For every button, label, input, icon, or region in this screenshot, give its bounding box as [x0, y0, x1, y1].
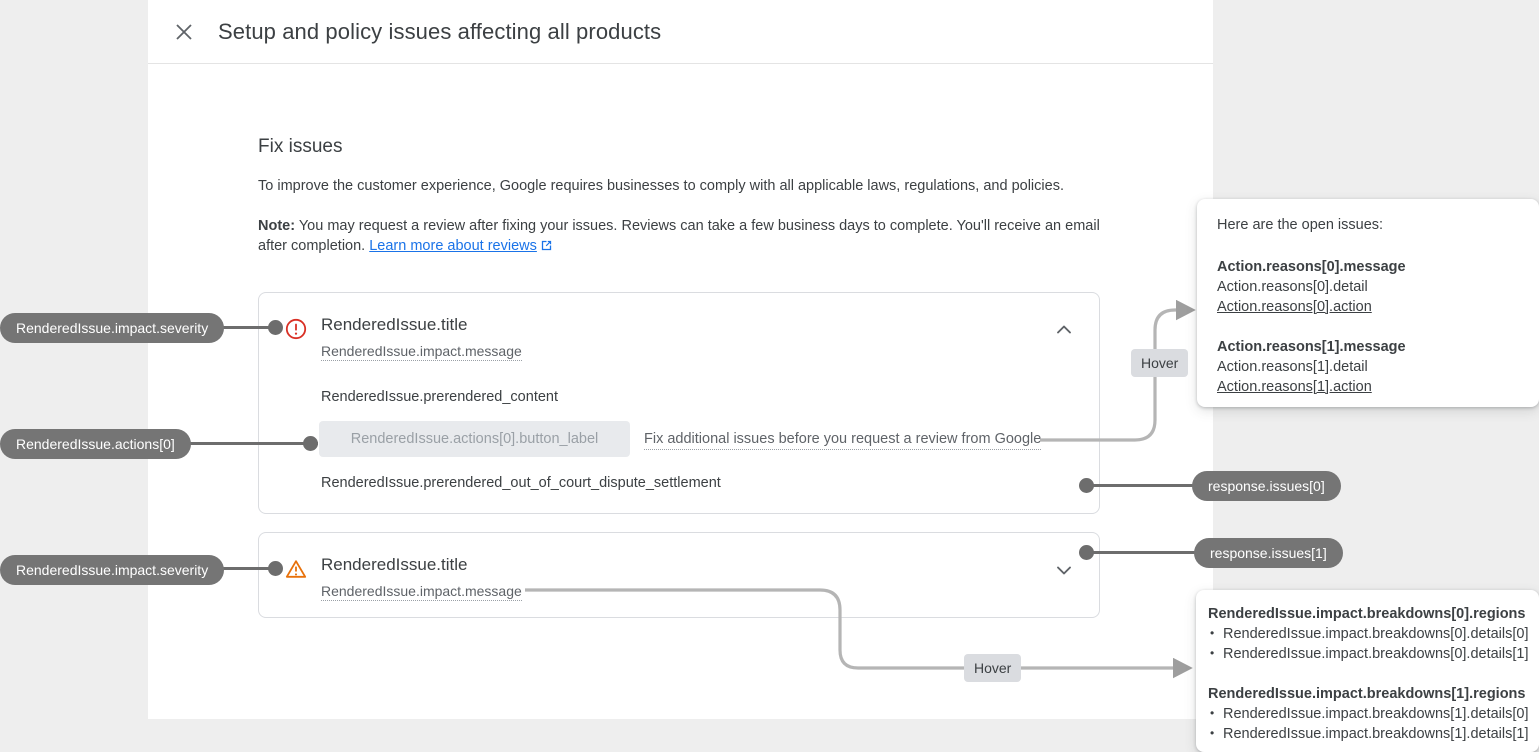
- annotation-layer: RenderedIssue.impact.severity RenderedIs…: [0, 0, 1539, 752]
- tooltip-impact-breakdowns: RenderedIssue.impact.breakdowns[0].regio…: [1196, 590, 1539, 752]
- annotation-severity-0: RenderedIssue.impact.severity: [0, 313, 224, 343]
- connector-line: [1088, 551, 1208, 554]
- breakdown-regions: RenderedIssue.impact.breakdowns[1].regio…: [1208, 684, 1525, 704]
- connector-dot: [268, 320, 283, 335]
- tooltip-lead: Here are the open issues:: [1217, 217, 1519, 233]
- annotation-response-issue-1: response.issues[1]: [1194, 538, 1343, 568]
- connector-dot: [268, 561, 283, 576]
- breakdown-detail: RenderedIssue.impact.breakdowns[0].detai…: [1208, 624, 1525, 644]
- connector-dot: [1079, 545, 1094, 560]
- tooltip-reason-group: Action.reasons[1].message Action.reasons…: [1217, 337, 1519, 397]
- breakdown-detail: RenderedIssue.impact.breakdowns[1].detai…: [1208, 704, 1525, 724]
- reason-action-link[interactable]: Action.reasons[1].action: [1217, 377, 1519, 397]
- annotation-severity-1: RenderedIssue.impact.severity: [0, 555, 224, 585]
- hover-badge-impact: Hover: [964, 654, 1021, 682]
- tooltip-reason-group: Action.reasons[0].message Action.reasons…: [1217, 257, 1519, 317]
- connector-line: [170, 442, 318, 445]
- annotation-actions-0: RenderedIssue.actions[0]: [0, 429, 191, 459]
- connector-dot: [303, 436, 318, 451]
- breakdown-group: RenderedIssue.impact.breakdowns[1].regio…: [1208, 684, 1525, 744]
- breakdown-detail: RenderedIssue.impact.breakdowns[0].detai…: [1208, 644, 1525, 664]
- reason-detail: Action.reasons[0].detail: [1217, 277, 1519, 297]
- annotation-response-issue-0: response.issues[0]: [1192, 471, 1341, 501]
- connector-line: [1088, 484, 1208, 487]
- connector-dot: [1079, 478, 1094, 493]
- reason-message: Action.reasons[0].message: [1217, 257, 1519, 277]
- breakdown-group: RenderedIssue.impact.breakdowns[0].regio…: [1208, 604, 1525, 664]
- tooltip-open-issues: Here are the open issues: Action.reasons…: [1197, 199, 1539, 407]
- breakdown-regions: RenderedIssue.impact.breakdowns[0].regio…: [1208, 604, 1525, 624]
- reason-message: Action.reasons[1].message: [1217, 337, 1519, 357]
- reason-action-link[interactable]: Action.reasons[0].action: [1217, 297, 1519, 317]
- reason-detail: Action.reasons[1].detail: [1217, 357, 1519, 377]
- breakdown-detail: RenderedIssue.impact.breakdowns[1].detai…: [1208, 724, 1525, 744]
- hover-badge-actions: Hover: [1131, 349, 1188, 377]
